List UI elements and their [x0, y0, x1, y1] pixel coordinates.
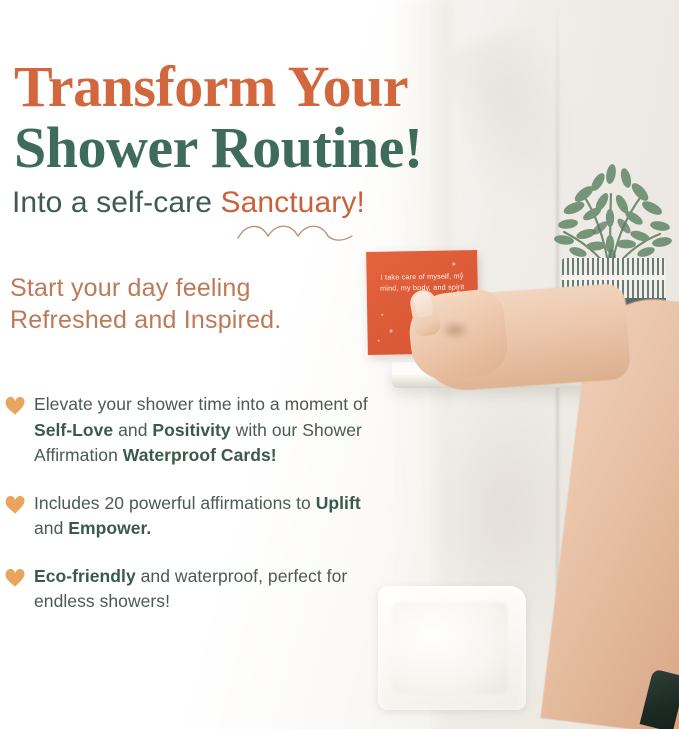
bullet-text-segment: Includes 20 powerful affirmations to: [34, 493, 316, 513]
lead-paragraph: Start your day feeling Refreshed and Ins…: [10, 272, 281, 336]
subheadline-prefix: Into a self-care: [12, 186, 220, 219]
feature-bullet-list: Elevate your shower time into a moment o…: [4, 392, 374, 637]
bullet-text-segment: Uplift: [316, 493, 361, 513]
heart-icon: [4, 494, 26, 515]
marketing-copy: Transform Your Shower Routine! Into a se…: [0, 0, 679, 729]
lead-line-1: Start your day feeling: [10, 272, 281, 304]
heart-icon: [4, 395, 26, 416]
feature-bullet: Includes 20 powerful affirmations to Upl…: [4, 491, 374, 542]
subheadline: Into a self-care Sanctuary!: [12, 186, 365, 220]
headline-line-2: Shower Routine!: [14, 117, 423, 178]
bullet-text-segment: Self-Love: [34, 420, 113, 440]
bullet-text-segment: Waterproof Cards!: [123, 445, 277, 465]
page-title: Transform Your Shower Routine!: [14, 56, 423, 178]
bullet-text-segment: Elevate your shower time into a moment o…: [34, 394, 368, 414]
bullet-text-segment: and: [34, 518, 68, 538]
headline-line-1: Transform Your: [14, 56, 423, 117]
bullet-text-segment: Eco-friendly: [34, 566, 136, 586]
feature-bullet: Eco-friendly and waterproof, perfect for…: [4, 564, 374, 615]
subheadline-accent: Sanctuary!: [220, 186, 364, 219]
lead-line-2: Refreshed and Inspired.: [10, 304, 281, 336]
feature-bullet: Elevate your shower time into a moment o…: [4, 392, 374, 469]
bullet-text-segment: and: [113, 420, 152, 440]
heart-icon: [4, 567, 26, 588]
bullet-text-segment: Positivity: [152, 420, 230, 440]
squiggle-underline-icon: [236, 218, 354, 244]
bullet-text-segment: Empower.: [68, 518, 151, 538]
